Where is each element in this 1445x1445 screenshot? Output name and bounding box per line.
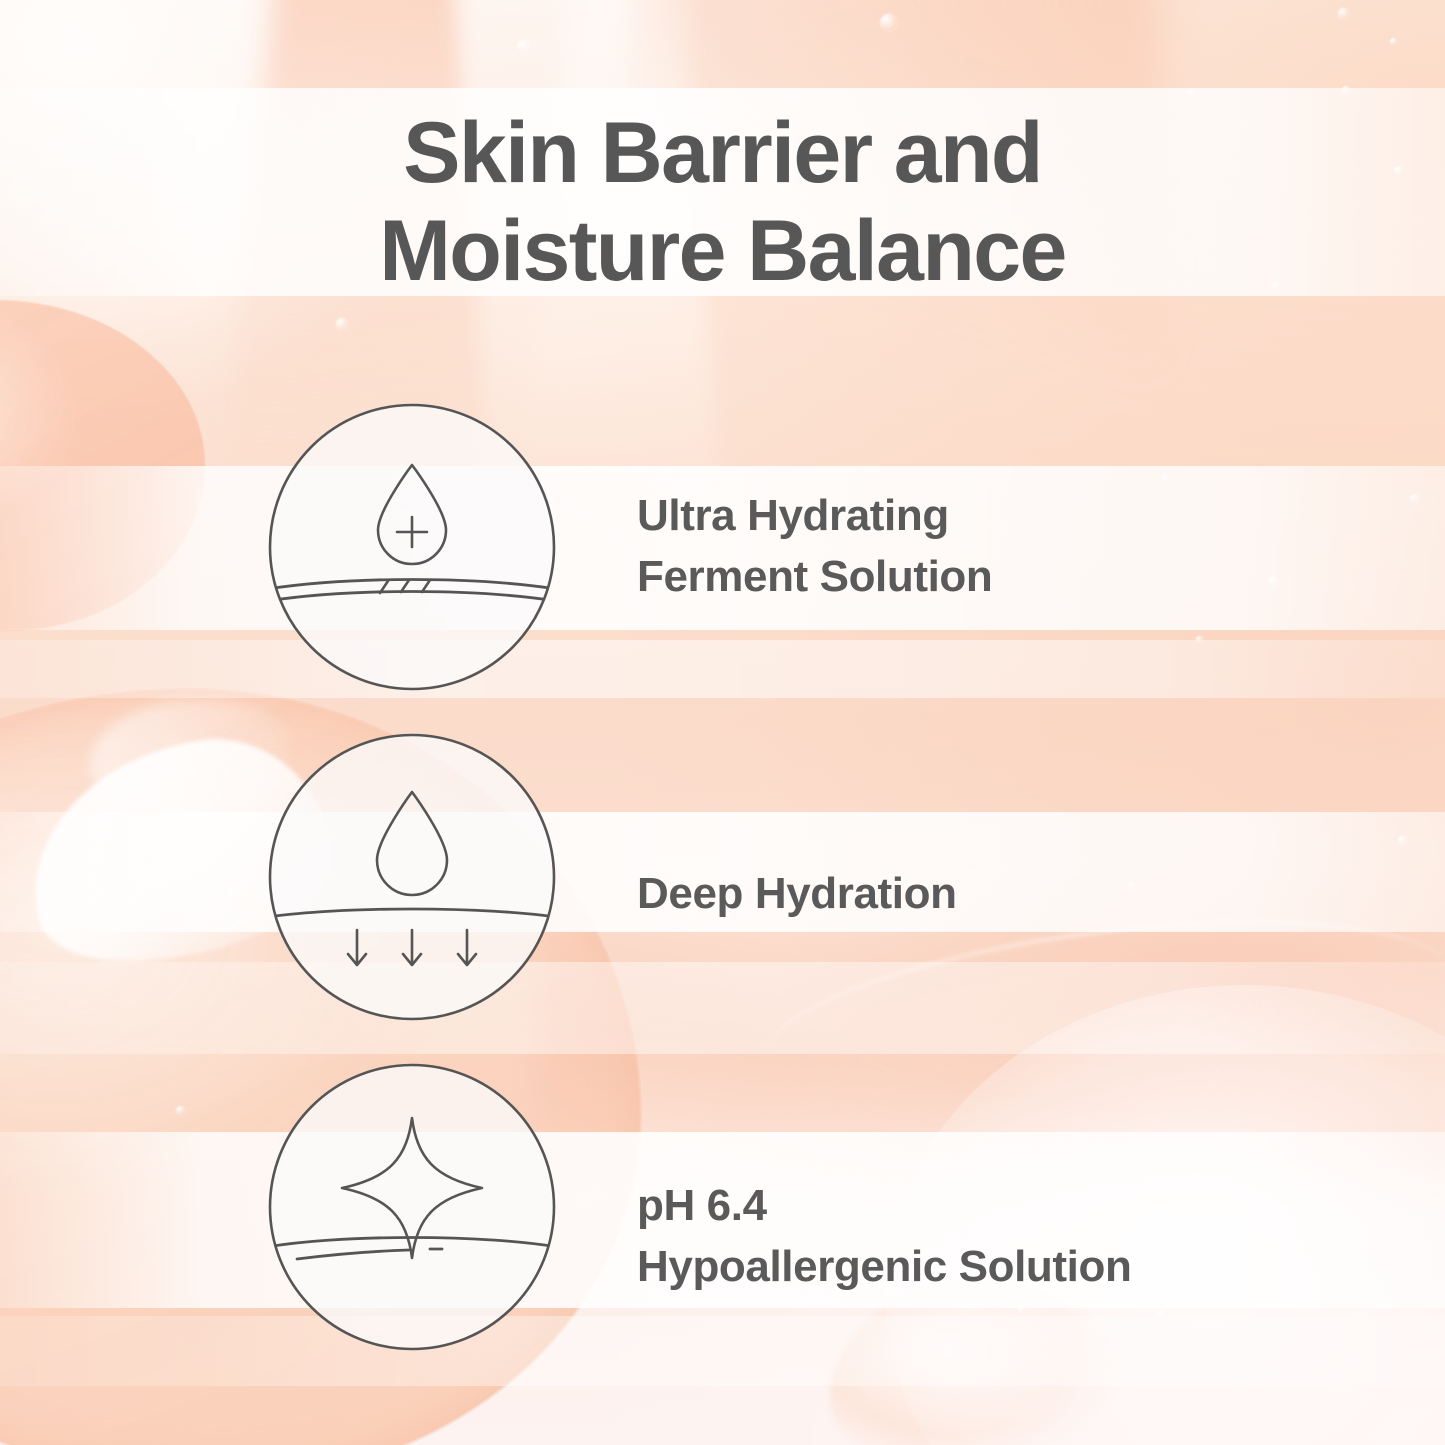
feature-label: Ultra Hydrating Ferment Solution bbox=[637, 486, 992, 607]
feature-label: pH 6.4 Hypoallergenic Solution bbox=[637, 1176, 1131, 1297]
content-layer: Skin Barrier and Moisture Balance bbox=[0, 0, 1445, 1445]
page-title: Skin Barrier and Moisture Balance bbox=[0, 104, 1445, 300]
feature-label: Deep Hydration bbox=[637, 864, 957, 925]
page-title-line-2: Moisture Balance bbox=[0, 202, 1445, 300]
droplet-down-arrows-icon bbox=[267, 732, 557, 1022]
sparkle-smooth-skin-icon bbox=[267, 1062, 557, 1352]
droplet-plus-barrier-icon bbox=[267, 402, 557, 692]
feature-row: pH 6.4 Hypoallergenic Solution bbox=[0, 1062, 1445, 1354]
infographic-canvas: Skin Barrier and Moisture Balance bbox=[0, 0, 1445, 1445]
feature-row: Deep Hydration bbox=[0, 732, 1445, 1024]
page-title-line-1: Skin Barrier and bbox=[0, 104, 1445, 202]
feature-row: Ultra Hydrating Ferment Solution bbox=[0, 402, 1445, 694]
